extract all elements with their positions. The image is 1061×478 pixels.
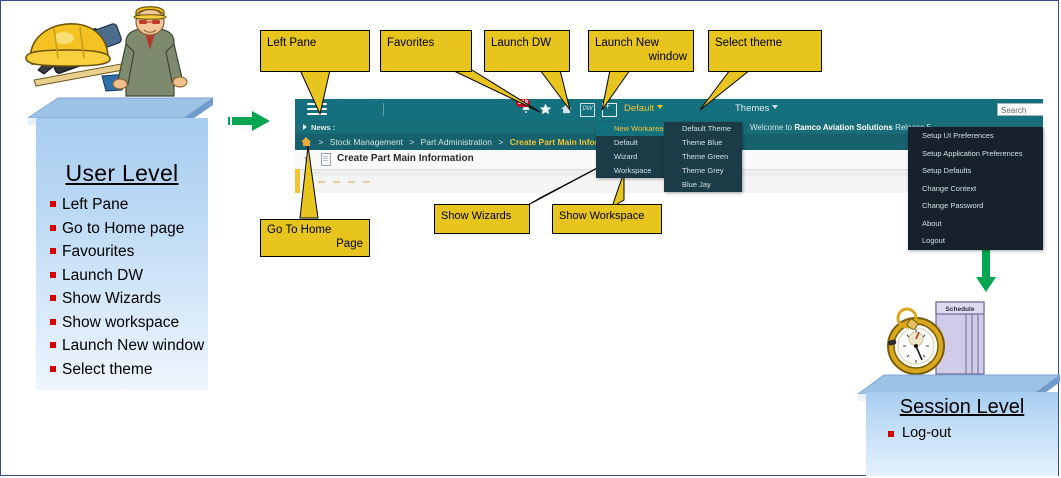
notifications-bell-icon[interactable]: 219 bbox=[519, 103, 533, 117]
user-menu[interactable]: Setup UI Preferences Setup Application P… bbox=[908, 127, 1043, 250]
toolbar-divider bbox=[383, 103, 384, 116]
menu-item-theme-grey[interactable]: Theme Grey bbox=[664, 164, 742, 178]
workarea-label: Default bbox=[624, 103, 654, 114]
list-item: Favourites bbox=[50, 240, 208, 264]
list-item: Select theme bbox=[50, 358, 208, 382]
launch-dw-icon[interactable]: DW bbox=[580, 103, 595, 117]
favorite-star-icon[interactable]: ★ bbox=[303, 154, 312, 165]
callout-label-line2: window bbox=[589, 50, 693, 64]
user-level-box-face: User Level Left Pane Go to Home page Fav… bbox=[36, 118, 208, 390]
menu-item-change-password[interactable]: Change Password bbox=[908, 197, 1043, 215]
welcome-brand: Ramco Aviation Solutions bbox=[794, 123, 893, 132]
callout-show-workspace: Show Workspace bbox=[552, 204, 662, 234]
workarea-dropdown[interactable]: Default bbox=[624, 103, 663, 114]
callout-label-line2: Page bbox=[261, 237, 369, 251]
breadcrumb-separator: > bbox=[409, 137, 414, 147]
menu-item-setup-defaults[interactable]: Setup Defaults bbox=[908, 162, 1043, 180]
callout-label: Left Pane bbox=[261, 31, 369, 50]
breadcrumb-separator: > bbox=[498, 137, 503, 147]
list-item: Launch DW bbox=[50, 264, 208, 288]
faint-content-row: ▬ ▬ ▬ ▬ ▬ bbox=[303, 178, 373, 185]
left-pane-menu-icon[interactable] bbox=[307, 103, 327, 117]
menu-item-setup-application-preferences[interactable]: Setup Application Preferences bbox=[908, 145, 1043, 163]
session-level-list: Log-out bbox=[866, 425, 1058, 441]
callout-label: Show Wizards bbox=[435, 205, 529, 223]
menu-item-about[interactable]: About bbox=[908, 215, 1043, 233]
home-icon[interactable] bbox=[559, 103, 573, 117]
breadcrumb-separator: > bbox=[318, 137, 323, 147]
chevron-down-icon bbox=[657, 105, 663, 109]
breadcrumb-item[interactable]: Part Administration bbox=[421, 137, 492, 147]
green-down-arrow bbox=[975, 243, 997, 298]
favorites-star-icon[interactable] bbox=[538, 103, 552, 117]
menu-item-default-theme[interactable]: Default Theme bbox=[664, 122, 742, 136]
menu-item-logout[interactable]: Logout bbox=[908, 232, 1043, 250]
app-toolbar: 219 DW Default Themes Search Quick Code … bbox=[295, 99, 1043, 121]
callout-favorites: Favorites bbox=[380, 30, 472, 72]
green-right-arrow bbox=[226, 110, 272, 137]
welcome-message: Welcome to Ramco Aviation Solutions Rele… bbox=[750, 121, 931, 134]
menu-item-theme-green[interactable]: Theme Green bbox=[664, 150, 742, 164]
menu-item-blue-jay[interactable]: Blue Jay bbox=[664, 178, 742, 192]
list-item: Go to Home page bbox=[50, 217, 208, 241]
menu-item-change-context[interactable]: Change Context bbox=[908, 180, 1043, 198]
menu-item-theme-blue[interactable]: Theme Blue bbox=[664, 136, 742, 150]
menu-item-new-workarea[interactable]: New Workarea bbox=[596, 122, 666, 136]
user-level-title: User Level bbox=[36, 118, 208, 187]
callout-label: Favorites bbox=[381, 31, 471, 50]
expand-triangle-icon[interactable] bbox=[303, 124, 307, 130]
list-item: Show Wizards bbox=[50, 287, 208, 311]
callout-go-to-home-page: Go To Home Page bbox=[260, 219, 370, 257]
menu-item-workspace[interactable]: Workspace bbox=[596, 164, 666, 178]
session-level-box-face: Session Level Log-out bbox=[866, 392, 1058, 476]
themes-label: Themes bbox=[735, 103, 769, 114]
callout-launch-new-window: Launch New window bbox=[588, 30, 694, 72]
menu-item-setup-ui-preferences[interactable]: Setup UI Preferences bbox=[908, 127, 1043, 145]
callout-show-wizards: Show Wizards bbox=[434, 204, 530, 234]
welcome-prefix: Welcome to bbox=[750, 123, 794, 132]
menu-item-default[interactable]: Default bbox=[596, 136, 666, 150]
callout-launch-dw: Launch DW bbox=[484, 30, 570, 72]
chevron-down-icon bbox=[772, 105, 778, 109]
workarea-menu[interactable]: New Workarea Default Wizard Workspace bbox=[596, 122, 666, 178]
callout-label: Go To Home bbox=[261, 220, 369, 237]
breadcrumb-home-icon[interactable] bbox=[301, 137, 312, 146]
page-title: Create Part Main Information bbox=[337, 153, 474, 164]
callout-label: Launch New bbox=[589, 31, 693, 50]
callout-left-pane: Left Pane bbox=[260, 30, 370, 72]
left-accent-bar bbox=[295, 169, 300, 193]
callout-label: Launch DW bbox=[485, 31, 569, 50]
construction-worker-clipart bbox=[14, 6, 194, 98]
callout-label: Select theme bbox=[709, 31, 821, 50]
list-item: Launch New window bbox=[50, 334, 208, 358]
themes-dropdown[interactable]: Themes bbox=[735, 103, 778, 114]
session-level-title: Session Level bbox=[866, 392, 1058, 419]
launch-new-window-icon[interactable] bbox=[602, 103, 617, 117]
news-label: News : bbox=[311, 123, 335, 132]
list-item: Left Pane bbox=[50, 193, 208, 217]
themes-menu[interactable]: Default Theme Theme Blue Theme Green The… bbox=[664, 122, 742, 192]
breadcrumb-item[interactable]: Stock Management bbox=[330, 137, 403, 147]
callout-select-theme: Select theme bbox=[708, 30, 822, 72]
user-level-box: User Level Left Pane Go to Home page Fav… bbox=[28, 96, 208, 390]
search-input[interactable]: Search bbox=[997, 103, 1043, 116]
notification-count-badge: 219 bbox=[516, 99, 530, 107]
list-item: Log-out bbox=[888, 425, 1058, 441]
user-level-list: Left Pane Go to Home page Favourites Lau… bbox=[36, 193, 208, 381]
session-level-box: Session Level Log-out bbox=[858, 300, 1058, 476]
callout-label: Show Workspace bbox=[553, 205, 661, 223]
document-icon bbox=[321, 153, 331, 166]
list-item: Show workspace bbox=[50, 311, 208, 335]
menu-item-wizard[interactable]: Wizard bbox=[596, 150, 666, 164]
